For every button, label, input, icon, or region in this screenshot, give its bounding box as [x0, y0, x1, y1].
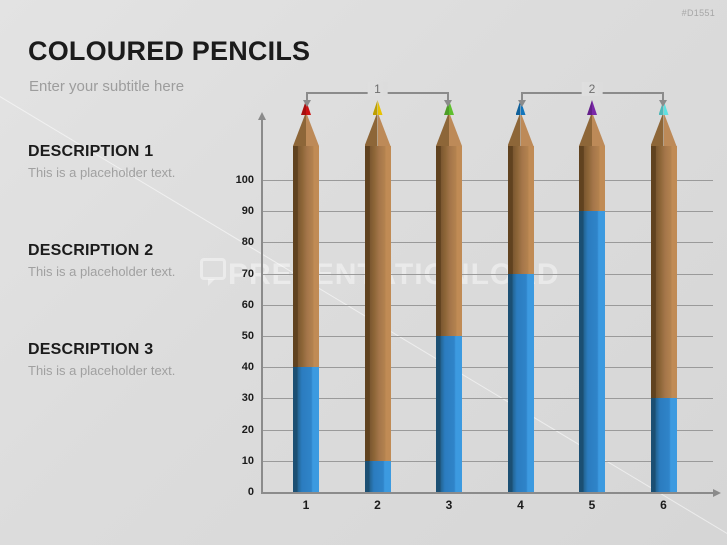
gridline	[263, 242, 713, 243]
pencil-value-fill	[365, 461, 391, 492]
pencil-tip-left-facet	[579, 112, 592, 146]
description-block-1: DESCRIPTION 1 This is a placeholder text…	[28, 143, 175, 180]
y-tick-label: 30	[242, 392, 254, 404]
pencil-wood-segment	[579, 146, 605, 211]
bracket-arrow-right	[447, 92, 449, 101]
pencil-wood-segment	[293, 146, 319, 367]
pencil-bar[interactable]	[365, 146, 391, 492]
x-tick-label: 3	[446, 498, 453, 512]
pencil-wood-segment	[365, 146, 391, 461]
pencil-tip-left-facet	[436, 112, 449, 146]
pencil-value-fill	[651, 398, 677, 492]
pencil-tip-left-facet	[365, 112, 378, 146]
y-tick-label: 40	[242, 361, 254, 373]
pencil-bar-chart: 0102030405060708090100 123456 12	[236, 86, 716, 511]
pencil-wood-segment	[508, 146, 534, 274]
description-heading-2: DESCRIPTION 2	[28, 242, 175, 260]
pencil-value-fill	[579, 211, 605, 492]
pencil-bar[interactable]	[579, 146, 605, 492]
gridline	[263, 398, 713, 399]
x-tick-label: 5	[589, 498, 596, 512]
pencil-tip-right-facet	[521, 112, 534, 146]
group-bracket: 1	[306, 86, 449, 108]
pencil-tip-left-facet	[293, 112, 306, 146]
description-heading-3: DESCRIPTION 3	[28, 341, 175, 359]
pencil-tip-right-facet	[378, 112, 391, 146]
gridline	[263, 430, 713, 431]
description-text-1: This is a placeholder text.	[28, 165, 175, 180]
description-block-3: DESCRIPTION 3 This is a placeholder text…	[28, 341, 175, 378]
pencil-tip	[293, 112, 319, 146]
gridline	[263, 180, 713, 181]
y-tick-label: 60	[242, 299, 254, 311]
bracket-arrow-left	[521, 92, 523, 101]
watermark-bubble-icon	[200, 258, 226, 280]
pencil-tip-right-facet	[664, 112, 677, 146]
pencil-wood-segment	[436, 146, 462, 336]
pencil-bar[interactable]	[508, 146, 534, 492]
description-text-3: This is a placeholder text.	[28, 363, 175, 378]
x-tick-label: 2	[374, 498, 381, 512]
pencil-value-fill	[436, 336, 462, 492]
gridline	[263, 211, 713, 212]
pencil-tip	[436, 112, 462, 146]
y-tick-label: 100	[236, 174, 254, 186]
pencil-tip-right-facet	[592, 112, 605, 146]
pencil-bar[interactable]	[293, 146, 319, 492]
page-title: COLOURED PENCILS	[28, 36, 310, 67]
gridline	[263, 336, 713, 337]
slide: #D1551 COLOURED PENCILS Enter your subti…	[0, 0, 727, 545]
y-tick-label: 0	[248, 486, 254, 498]
description-text-2: This is a placeholder text.	[28, 264, 175, 279]
pencil-bar[interactable]	[436, 146, 462, 492]
gridline	[263, 305, 713, 306]
y-tick-label: 20	[242, 424, 254, 436]
pencil-tip-right-facet	[449, 112, 462, 146]
y-tick-label: 70	[242, 268, 254, 280]
pencil-value-fill	[293, 367, 319, 492]
y-tick-label: 80	[242, 236, 254, 248]
x-tick-label: 6	[660, 498, 667, 512]
y-tick-label: 10	[242, 455, 254, 467]
pencil-tip	[508, 112, 534, 146]
pencil-wood-segment	[651, 146, 677, 398]
bracket-arrow-right	[662, 92, 664, 101]
group-bracket: 2	[521, 86, 664, 108]
pencil-tip	[651, 112, 677, 146]
pencil-tip	[579, 112, 605, 146]
document-id: #D1551	[682, 8, 715, 18]
bracket-label: 1	[367, 82, 388, 96]
gridline	[263, 274, 713, 275]
pencil-tip-left-facet	[651, 112, 664, 146]
gridline	[263, 461, 713, 462]
y-tick-label: 50	[242, 330, 254, 342]
y-axis	[261, 119, 263, 494]
description-heading-1: DESCRIPTION 1	[28, 143, 175, 161]
x-tick-label: 4	[517, 498, 524, 512]
pencil-tip-right-facet	[306, 112, 319, 146]
gridline	[263, 367, 713, 368]
page-subtitle: Enter your subtitle here	[29, 78, 184, 95]
description-block-2: DESCRIPTION 2 This is a placeholder text…	[28, 242, 175, 279]
pencil-tip	[365, 112, 391, 146]
x-axis	[261, 492, 714, 494]
bracket-label: 2	[582, 82, 603, 96]
x-tick-label: 1	[303, 498, 310, 512]
y-tick-label: 90	[242, 205, 254, 217]
pencil-value-fill	[508, 274, 534, 492]
pencil-bar[interactable]	[651, 146, 677, 492]
pencil-tip-left-facet	[508, 112, 521, 146]
bracket-arrow-left	[306, 92, 308, 101]
